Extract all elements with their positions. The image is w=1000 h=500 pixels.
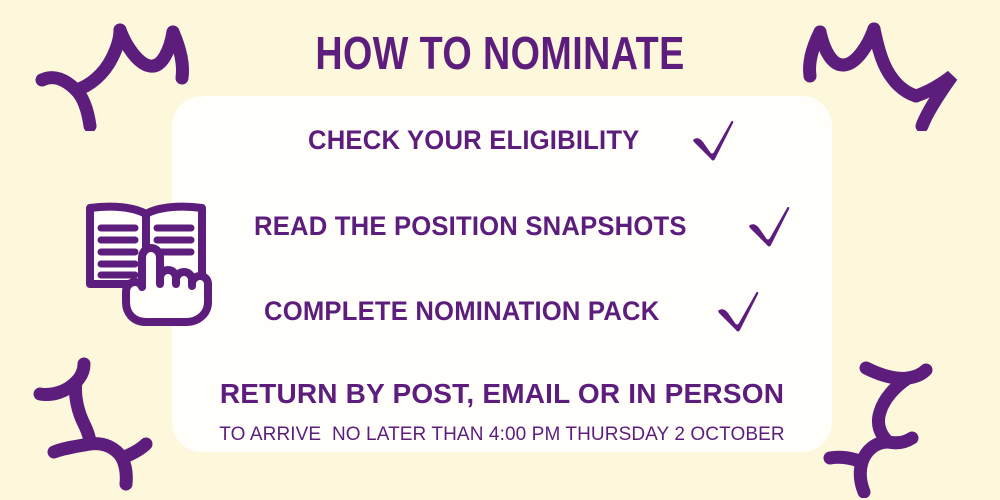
squiggle-doodle-icon	[818, 358, 958, 498]
poster-canvas: HOW TO NOMINATE CHECK YOUR ELIGIBILITY R…	[0, 0, 1000, 500]
step-label-nomination-pack: COMPLETE NOMINATION PACK	[264, 296, 659, 327]
step-row: CHECK YOUR ELIGIBILITY	[308, 114, 739, 166]
step-row: READ THE POSITION SNAPSHOTS	[254, 200, 795, 252]
open-book-with-pointing-hand-icon	[84, 196, 220, 328]
checkmark-icon	[687, 114, 739, 166]
squiggle-doodle-icon	[28, 356, 168, 496]
step-row: COMPLETE NOMINATION PACK	[264, 285, 764, 337]
checkmark-icon	[743, 200, 795, 252]
footer-return-instruction: RETURN BY POST, EMAIL OR IN PERSON	[172, 378, 832, 410]
step-label-snapshots: READ THE POSITION SNAPSHOTS	[254, 211, 687, 242]
footer-deadline: TO ARRIVE NO LATER THAN 4:00 PM THURSDAY…	[172, 424, 832, 446]
step-label-eligibility: CHECK YOUR ELIGIBILITY	[308, 125, 639, 156]
checkmark-icon	[712, 285, 764, 337]
page-title: HOW TO NOMINATE	[90, 26, 910, 80]
